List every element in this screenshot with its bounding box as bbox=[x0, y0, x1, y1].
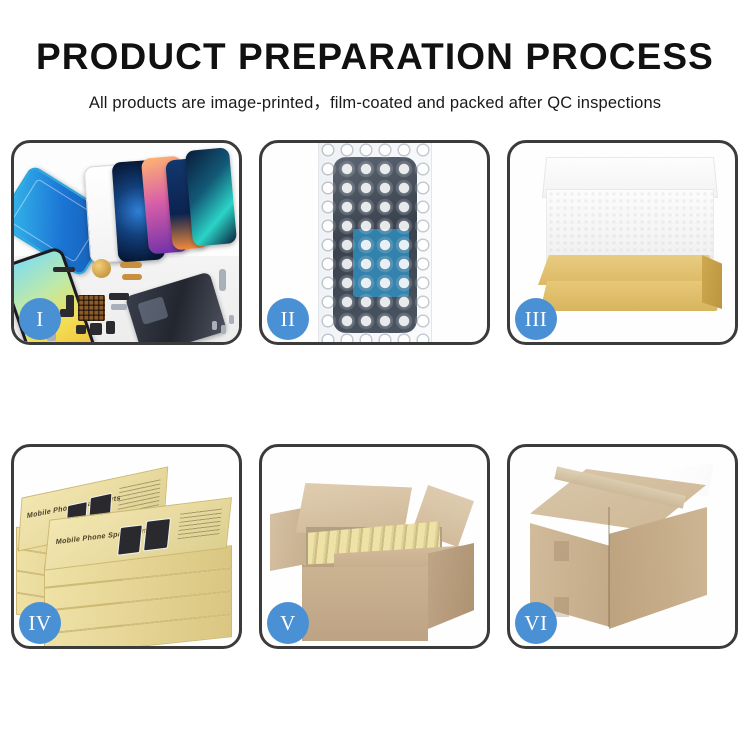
carton-front-face bbox=[302, 567, 428, 641]
kraft-box-side bbox=[702, 255, 722, 309]
camera-module-icon bbox=[90, 323, 102, 335]
process-steps-grid: I II bbox=[11, 140, 739, 649]
flex-cable-icon bbox=[120, 262, 142, 268]
small-part-icon bbox=[109, 293, 129, 300]
step-panel-4: Mobile Phone Spare Parts Mobile Phone Sp… bbox=[11, 444, 242, 649]
step-panel-2: II bbox=[259, 140, 490, 345]
screw-icon bbox=[212, 321, 217, 330]
step-badge-4: IV bbox=[19, 602, 61, 644]
product-preparation-page: PRODUCT PREPARATION PROCESS All products… bbox=[0, 0, 750, 750]
logic-board-chip-icon bbox=[78, 295, 105, 321]
step-panel-5: V bbox=[259, 444, 490, 649]
page-header: PRODUCT PREPARATION PROCESS All products… bbox=[0, 0, 750, 113]
step-panel-3: III bbox=[507, 140, 738, 345]
small-part-icon bbox=[76, 325, 86, 334]
box-spec-lines bbox=[178, 508, 222, 540]
small-part-icon bbox=[106, 321, 115, 334]
carton-corner-seam bbox=[608, 507, 610, 627]
small-part-icon bbox=[60, 309, 74, 317]
step-panel-6: VI bbox=[507, 444, 738, 649]
step-badge-3: III bbox=[515, 298, 557, 340]
carton-handle-tab bbox=[554, 597, 569, 617]
page-subtitle: All products are image-printed，film-coat… bbox=[0, 78, 750, 113]
screwdriver-icon bbox=[219, 269, 226, 291]
screw-icon bbox=[221, 325, 226, 334]
flex-cable-icon bbox=[122, 274, 142, 280]
step-badge-1: I bbox=[19, 298, 61, 340]
bubble-outlines bbox=[319, 143, 431, 342]
step-badge-5: V bbox=[267, 602, 309, 644]
foam-padding-icon bbox=[546, 189, 714, 263]
teal-phone-screen-icon bbox=[185, 147, 237, 246]
step-badge-6: VI bbox=[515, 602, 557, 644]
step-panel-1: I bbox=[11, 140, 242, 345]
carton-right-face bbox=[428, 543, 474, 629]
box-inner-rim bbox=[538, 255, 720, 285]
carton-handle-tab bbox=[554, 541, 569, 561]
step-badge-2: II bbox=[267, 298, 309, 340]
speaker-coil-icon bbox=[92, 259, 111, 278]
kraft-box-front bbox=[540, 281, 718, 311]
screw-icon bbox=[229, 315, 234, 324]
box-product-photo bbox=[143, 518, 171, 552]
page-title: PRODUCT PREPARATION PROCESS bbox=[0, 0, 750, 78]
box-product-photo bbox=[117, 524, 143, 555]
bubble-wrap-bag bbox=[318, 143, 432, 342]
metal-bracket-icon bbox=[111, 304, 127, 310]
earpiece-mesh-icon bbox=[53, 267, 75, 272]
